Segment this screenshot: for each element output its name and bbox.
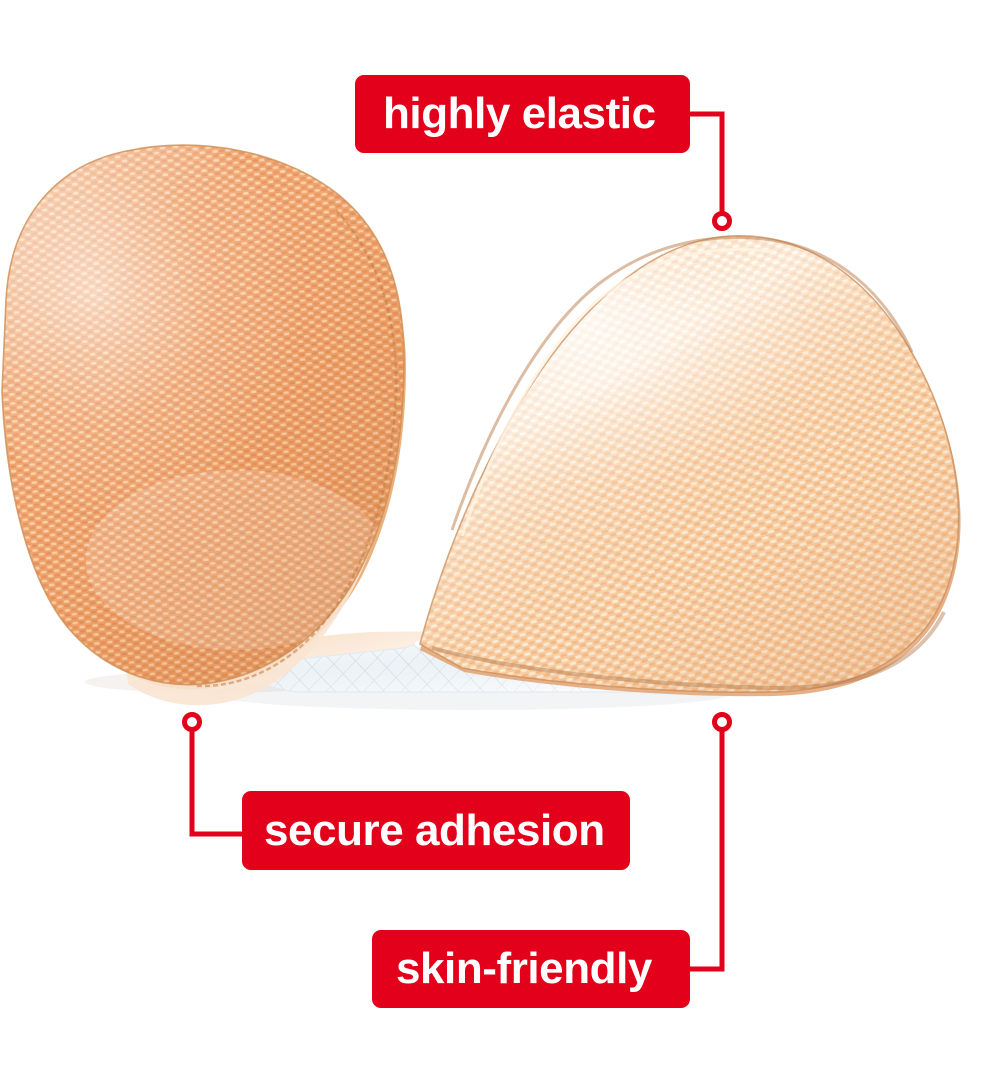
callout-label-skin-friendly[interactable]: skin-friendly bbox=[372, 930, 690, 1008]
product-callout-figure: highly elastic secure adhesion skin-frie… bbox=[0, 0, 1000, 1082]
callout-text-highly-elastic: highly elastic bbox=[383, 92, 656, 136]
callout-text-secure-adhesion: secure adhesion bbox=[264, 809, 605, 853]
plaster-right bbox=[400, 220, 1000, 710]
callout-label-highly-elastic[interactable]: highly elastic bbox=[355, 75, 690, 153]
product-image bbox=[0, 0, 1000, 1082]
plaster-left bbox=[0, 130, 420, 705]
callout-text-skin-friendly: skin-friendly bbox=[396, 947, 652, 991]
callout-label-secure-adhesion[interactable]: secure adhesion bbox=[242, 791, 630, 870]
